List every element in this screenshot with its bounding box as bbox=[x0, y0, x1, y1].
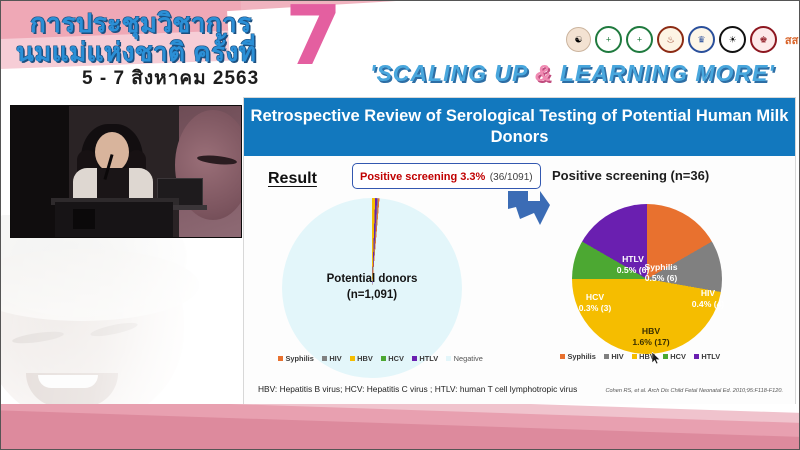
legend-item-hiv-left: HIV bbox=[322, 354, 342, 363]
slide-title-bar: Retrospective Review of Serological Test… bbox=[244, 98, 795, 156]
legend-swatch-hiv-right bbox=[604, 354, 609, 359]
podium-plate bbox=[73, 209, 95, 229]
thaihealth-sss-logo: สสส bbox=[781, 28, 800, 51]
royal-seal-glyph: ☯ bbox=[574, 35, 582, 44]
legend-label-hbv-right: HBV bbox=[639, 352, 655, 361]
legend-item-htlv-left: HTLV bbox=[412, 354, 438, 363]
legend-item-syphilis-right: Syphilis bbox=[560, 352, 596, 361]
legend-label-htlv-left: HTLV bbox=[419, 354, 438, 363]
tagline-part1: 'SCALING UP bbox=[370, 60, 535, 86]
legend-swatch-negative-left bbox=[446, 356, 451, 361]
legend-label-syphilis-left: Syphilis bbox=[286, 354, 314, 363]
slice-value-htlv: 0.5% (6) bbox=[610, 265, 656, 276]
ministry-health-glyph: + bbox=[606, 35, 611, 44]
legend-swatch-hcv-right bbox=[663, 354, 668, 359]
royal-crest-logo: ♛ bbox=[688, 26, 715, 53]
abbreviation-definitions: HBV: Hepatitis B virus; HCV: Hepatitis C… bbox=[258, 384, 577, 394]
legend-item-hbv-left: HBV bbox=[350, 354, 373, 363]
legend-item-hiv-right: HIV bbox=[604, 352, 624, 361]
unicef-style-glyph: ☀ bbox=[728, 35, 736, 44]
legend-item-htlv-right: HTLV bbox=[694, 352, 720, 361]
callout-highlight-text: Positive screening 3.3% bbox=[360, 171, 485, 183]
slice-value-hiv: 0.4% (4) bbox=[684, 299, 732, 310]
legend-label-negative-left: Negative bbox=[454, 354, 483, 363]
conference-date: 5 - 7 สิงหาคม 2563 bbox=[82, 63, 259, 93]
legend-item-hbv-right: HBV bbox=[632, 352, 655, 361]
screenshot-stage: การประชุมวิชาการ นมแม่แห่งชาติ ครั้งที่ … bbox=[0, 0, 800, 450]
legend-swatch-htlv-left bbox=[412, 356, 417, 361]
potential-donors-label-line2: (n=1,091) bbox=[282, 288, 462, 304]
legend-label-hcv-right: HCV bbox=[670, 352, 686, 361]
slice-label-hbv: HBV 1.6% (17) bbox=[620, 326, 682, 348]
potential-donors-center-label: Potential donors (n=1,091) bbox=[282, 272, 462, 303]
slice-name-htlv: HTLV bbox=[610, 254, 656, 265]
slide-title-text: Retrospective Review of Serological Test… bbox=[244, 106, 795, 148]
legend-swatch-hcv-left bbox=[381, 356, 386, 361]
legend-swatch-hbv-left bbox=[350, 356, 355, 361]
legend-item-hcv-right: HCV bbox=[663, 352, 686, 361]
legend-label-hiv-left: HIV bbox=[329, 354, 341, 363]
legend-item-hcv-left: HCV bbox=[381, 354, 404, 363]
red-crest-glyph: ♚ bbox=[759, 35, 767, 44]
red-crest-logo: ♚ bbox=[750, 26, 777, 53]
potential-donors-legend: Syphilis HIV HBV HCV HTLV Negative bbox=[278, 354, 483, 363]
tagline-ampersand: & bbox=[535, 60, 553, 86]
royal-crest-glyph: ♛ bbox=[697, 35, 705, 44]
unicef-style-logo: ☀ bbox=[719, 26, 746, 53]
bottom-decorative-band bbox=[0, 404, 800, 450]
potential-donors-label-line1: Potential donors bbox=[282, 272, 462, 288]
positive-screening-chart-title: Positive screening (n=36) bbox=[552, 168, 782, 183]
conference-edition-number: 7 bbox=[285, 0, 342, 78]
legend-label-hiv-right: HIV bbox=[611, 352, 623, 361]
legend-item-negative-left: Negative bbox=[446, 354, 483, 363]
conference-tagline: 'SCALING UP & LEARNING MORE' bbox=[370, 60, 775, 87]
baby-photo-fade-overlay bbox=[0, 215, 244, 420]
result-heading: Result bbox=[268, 170, 317, 188]
background-baby-photo bbox=[0, 215, 244, 420]
slide-footnote: HBV: Hepatitis B virus; HCV: Hepatitis C… bbox=[258, 384, 783, 394]
flow-arrow-icon bbox=[506, 187, 552, 229]
health-dept-logo: + bbox=[626, 26, 653, 53]
tagline-part2: LEARNING MORE' bbox=[552, 60, 774, 86]
slice-name-hbv: HBV bbox=[620, 326, 682, 337]
health-dept-glyph: + bbox=[637, 35, 642, 44]
legend-label-hbv-left: HBV bbox=[357, 354, 373, 363]
legend-label-htlv-right: HTLV bbox=[701, 352, 720, 361]
slice-value-hcv: 0.3% (3) bbox=[574, 303, 616, 314]
slice-label-htlv: HTLV 0.5% (6) bbox=[610, 254, 656, 276]
reference-citation: Cohen RS, et al. Arch Dis Child Fetal Ne… bbox=[605, 388, 783, 394]
legend-label-hcv-left: HCV bbox=[388, 354, 404, 363]
positive-screening-callout: Positive screening 3.3% (36/1091) bbox=[352, 163, 541, 189]
legend-swatch-syphilis-right bbox=[560, 354, 565, 359]
positive-screening-legend: Syphilis HIV HBV HCV HTLV bbox=[560, 352, 720, 361]
slice-value-hbv: 1.6% (17) bbox=[620, 337, 682, 348]
legend-swatch-htlv-right bbox=[694, 354, 699, 359]
slice-label-hiv: HIV 0.4% (4) bbox=[684, 288, 732, 310]
positive-screening-chart: Syphilis 0.5% (6) HIV 0.4% (4) HBV 1.6% … bbox=[556, 186, 771, 401]
thai-breastfeeding-logo: ♨ bbox=[657, 26, 684, 53]
thai-breastfeeding-glyph: ♨ bbox=[666, 35, 674, 44]
legend-swatch-hbv-right bbox=[632, 354, 637, 359]
speaker-video-thumbnail[interactable] bbox=[10, 105, 242, 238]
speaker-face bbox=[95, 132, 129, 172]
slice-label-hcv: HCV 0.3% (3) bbox=[574, 292, 616, 314]
potential-donors-chart: Potential donors (n=1,091) bbox=[282, 198, 482, 398]
legend-swatch-hiv-left bbox=[322, 356, 327, 361]
legend-label-syphilis-right: Syphilis bbox=[568, 352, 596, 361]
slice-name-hiv: HIV bbox=[684, 288, 732, 299]
positive-screening-pie: Syphilis 0.5% (6) HIV 0.4% (4) HBV 1.6% … bbox=[572, 204, 722, 354]
slice-name-hcv: HCV bbox=[574, 292, 616, 303]
potential-donors-pie: Potential donors (n=1,091) bbox=[282, 198, 462, 378]
callout-detail-text: (36/1091) bbox=[490, 172, 533, 183]
conference-banner: การประชุมวิชาการ นมแม่แห่งชาติ ครั้งที่ … bbox=[0, 0, 800, 96]
royal-seal-logo: ☯ bbox=[566, 27, 591, 52]
ministry-health-logo: + bbox=[595, 26, 622, 53]
sponsor-logo-row: ☯ + + ♨ ♛ ☀ ♚ สสส bbox=[566, 26, 800, 53]
presentation-slide[interactable]: Retrospective Review of Serological Test… bbox=[243, 97, 796, 409]
legend-swatch-syphilis-left bbox=[278, 356, 283, 361]
legend-item-syphilis-left: Syphilis bbox=[278, 354, 314, 363]
